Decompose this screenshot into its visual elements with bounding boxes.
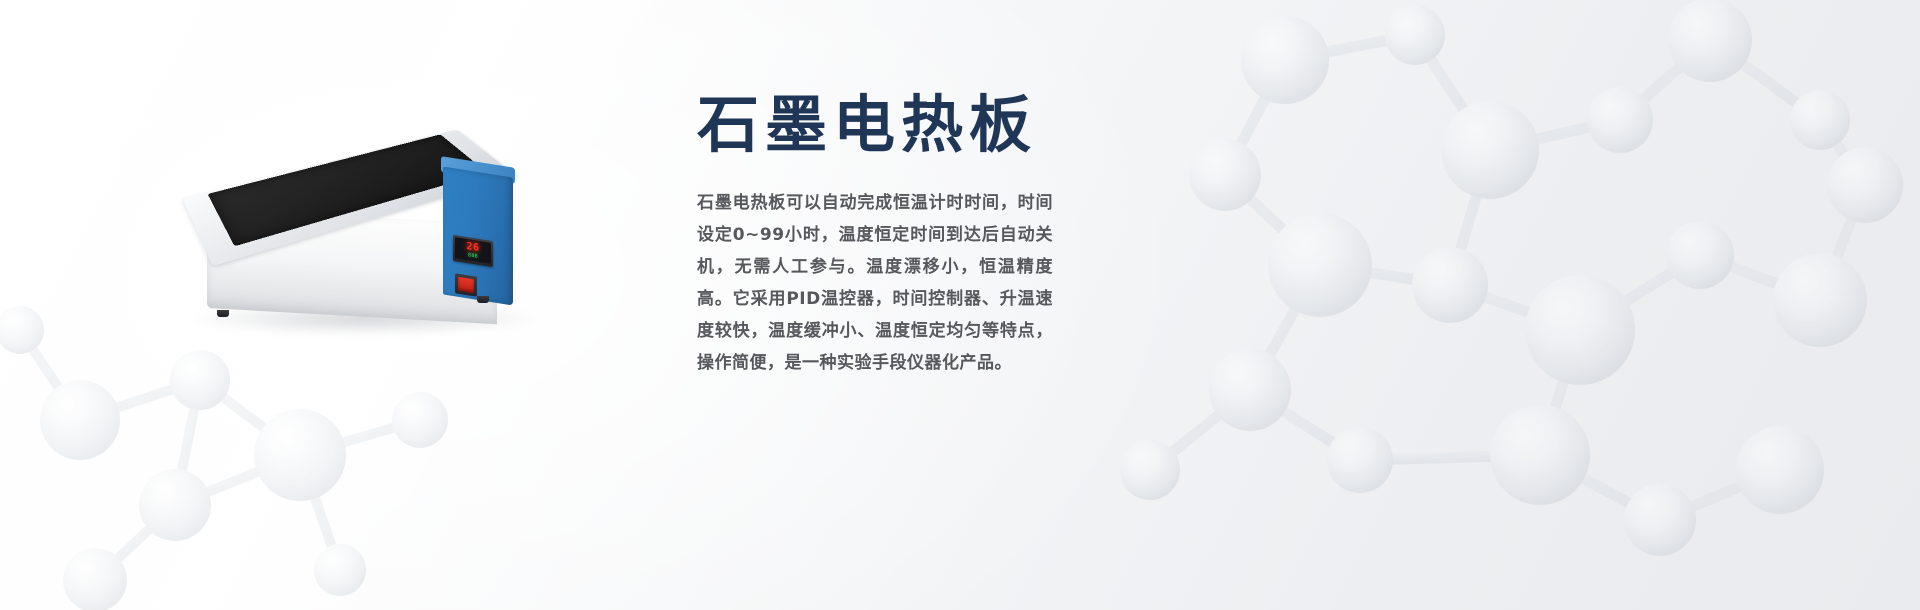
- product-foot-right: [477, 296, 489, 303]
- product-banner: 26 888 石墨电热板 石墨电热板可以自动完成恒温计时时间，时间设定0~99小…: [0, 0, 1920, 610]
- product-image: 26 888: [155, 110, 575, 360]
- product-description: 石墨电热板可以自动完成恒温计时时间，时间设定0~99小时，温度恒定时间到达后自动…: [697, 187, 1053, 379]
- power-switch[interactable]: [458, 277, 474, 294]
- product-foot-left: [217, 310, 229, 317]
- molecular-structure-watermark: [1020, 0, 1920, 610]
- page-title: 石墨电热板: [697, 92, 1057, 159]
- banner-text-block: 石墨电热板 石墨电热板可以自动完成恒温计时时间，时间设定0~99小时，温度恒定时…: [697, 92, 1057, 379]
- led-display-sub-value: 888: [468, 252, 478, 260]
